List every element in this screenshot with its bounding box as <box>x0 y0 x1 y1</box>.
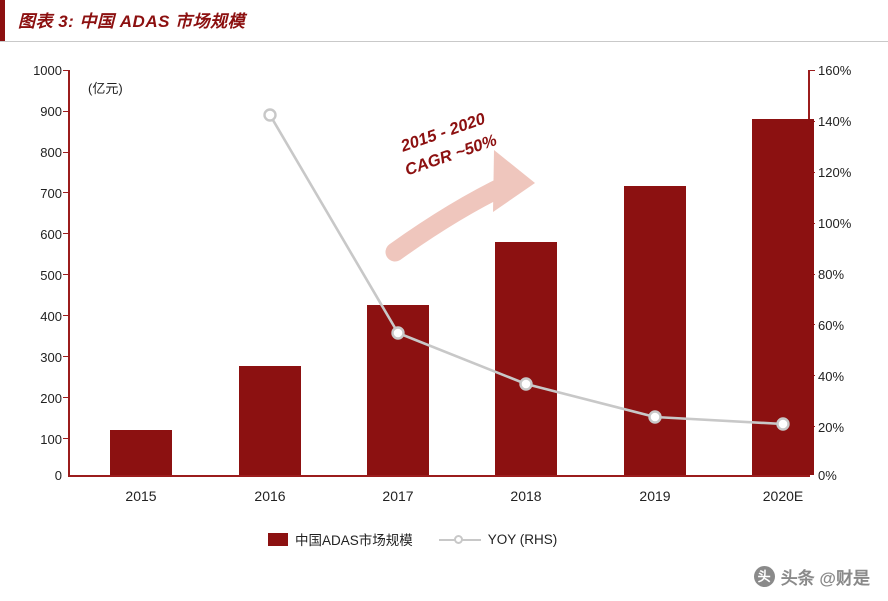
y-tick-left-500: 500 <box>18 268 62 283</box>
bar-2018 <box>495 242 557 475</box>
y-tick-right-80: 80% <box>818 267 844 282</box>
x-label-2018: 2018 <box>481 488 571 504</box>
x-label-2020e: 2020E <box>738 488 828 504</box>
y-tick-right-60: 60% <box>818 318 844 333</box>
y-tick-mark-left-400 <box>63 315 68 316</box>
y-tick-left-200: 200 <box>18 391 62 406</box>
x-label-2019: 2019 <box>610 488 700 504</box>
y-tick-mark-left-1000 <box>63 70 68 71</box>
y-tick-left-900: 900 <box>18 104 62 119</box>
bar-2017 <box>367 305 429 475</box>
y-axis-left <box>68 70 70 477</box>
page-title: 图表 3: 中国 ADAS 市场规模 <box>18 7 245 32</box>
y-tick-left-700: 700 <box>18 186 62 201</box>
y-tick-mark-right-160 <box>810 70 815 71</box>
legend-line-swatch-icon <box>439 533 481 546</box>
watermark: 头 头条 @财是 <box>754 564 870 589</box>
chart-canvas: (亿元) 1000 900 800 700 600 500 400 300 20… <box>0 42 888 601</box>
y-tick-mark-left-300 <box>63 356 68 357</box>
chart-title-bar: 图表 3: 中国 ADAS 市场规模 <box>0 0 888 42</box>
y-tick-mark-left-800 <box>63 152 68 153</box>
y-tick-right-40: 40% <box>818 369 844 384</box>
y-tick-mark-left-700 <box>63 192 68 193</box>
legend-label-line: YOY (RHS) <box>488 532 558 547</box>
x-axis <box>68 475 810 477</box>
y-tick-mark-left-100 <box>63 438 68 439</box>
y-tick-mark-left-900 <box>63 111 68 112</box>
y-tick-right-140: 140% <box>818 114 851 129</box>
legend-bar-swatch-icon <box>268 533 288 546</box>
bar-2016 <box>239 366 301 475</box>
yoy-point-2016 <box>265 110 276 121</box>
x-label-2017: 2017 <box>353 488 443 504</box>
cagr-annotation: 2015 - 2020 CAGR ~50% <box>349 90 544 197</box>
unit-label: (亿元) <box>88 78 123 97</box>
y-tick-right-20: 20% <box>818 420 844 435</box>
y-tick-left-100: 100 <box>18 432 62 447</box>
y-tick-left-800: 800 <box>18 145 62 160</box>
y-tick-mark-left-600 <box>63 233 68 234</box>
legend-item-bar[interactable]: 中国ADAS市场规模 <box>268 529 413 549</box>
y-tick-mark-left-500 <box>63 274 68 275</box>
y-tick-left-0: 0 <box>18 468 62 483</box>
legend-label-bar: 中国ADAS市场规模 <box>295 529 413 549</box>
bar-2015 <box>110 430 172 475</box>
bar-2019 <box>624 186 686 475</box>
legend-item-line[interactable]: YOY (RHS) <box>439 532 558 547</box>
y-tick-right-0: 0% <box>818 468 837 483</box>
y-tick-left-1000: 1000 <box>18 63 62 78</box>
bar-2020e <box>752 119 814 475</box>
title-accent-bar <box>0 0 5 42</box>
chart-legend: 中国ADAS市场规模 YOY (RHS) <box>268 529 557 549</box>
watermark-text: 头条 @财是 <box>781 564 870 589</box>
y-tick-left-300: 300 <box>18 350 62 365</box>
y-tick-mark-left-200 <box>63 397 68 398</box>
x-label-2015: 2015 <box>96 488 186 504</box>
y-tick-left-600: 600 <box>18 227 62 242</box>
x-label-2016: 2016 <box>225 488 315 504</box>
y-tick-right-160: 160% <box>818 63 851 78</box>
y-tick-right-120: 120% <box>818 165 851 180</box>
y-tick-right-100: 100% <box>818 216 851 231</box>
y-tick-left-400: 400 <box>18 309 62 324</box>
watermark-logo-icon: 头 <box>754 566 775 587</box>
